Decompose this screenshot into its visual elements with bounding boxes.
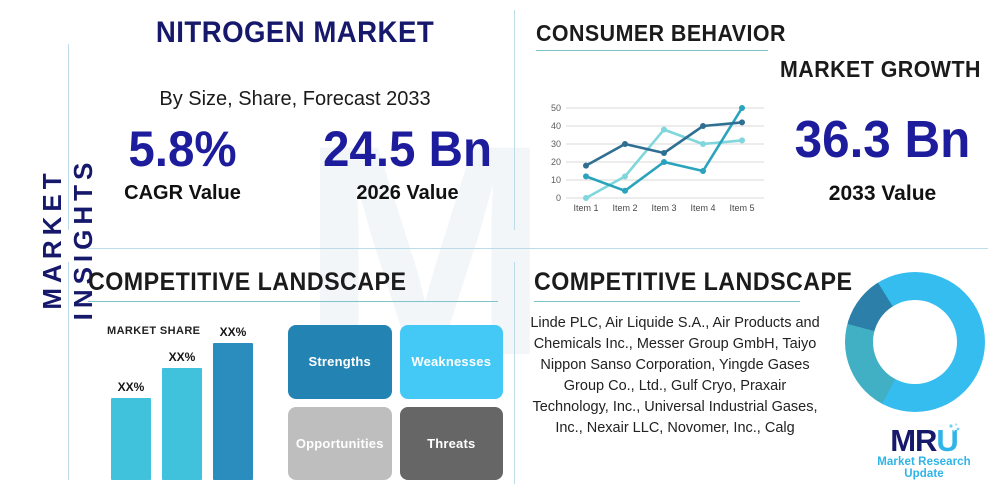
consumer-behavior-line-chart: 50 40 30 20 10 0 [536, 98, 766, 216]
bar-label-1: XX% [111, 380, 151, 394]
line-chart-svg: 50 40 30 20 10 0 [536, 98, 766, 216]
kpi-cagr: 5.8% CAGR Value [70, 120, 295, 205]
svg-text:Item 1: Item 1 [573, 203, 598, 213]
svg-text:30: 30 [551, 139, 561, 149]
chart-y-tick-labels: 50 40 30 20 10 0 [551, 103, 561, 203]
kpi-2026-value: 24.5 Bn [301, 120, 515, 178]
water-droplet-icon [946, 422, 962, 438]
section-heading-consumer-behavior: CONSUMER BEHAVIOR [536, 20, 786, 47]
chart-x-tick-labels: Item 1 Item 2 Item 3 Item 4 Item 5 [573, 203, 754, 213]
consumer-behavior-underline [536, 50, 768, 51]
section-heading-competitive-landscape-left: COMPETITIVE LANDSCAPE [88, 268, 407, 297]
kpi-2026-caption: 2026 Value [295, 182, 520, 205]
line-series-2 [586, 108, 742, 191]
kpi-cagr-value: 5.8% [76, 120, 290, 178]
bar-rect-1 [111, 398, 151, 480]
swot-grid: Strengths Weaknesses Opportunities Threa… [288, 325, 503, 480]
section-heading-market-growth: MARKET GROWTH [780, 56, 981, 83]
donut-hole [873, 300, 957, 384]
page-subtitle: By Size, Share, Forecast 2033 [70, 88, 520, 111]
logo-mark: MRU [858, 424, 990, 457]
svg-text:Item 5: Item 5 [729, 203, 754, 213]
svg-text:50: 50 [551, 103, 561, 113]
svg-text:0: 0 [556, 193, 561, 203]
svg-text:20: 20 [551, 157, 561, 167]
svg-text:Item 4: Item 4 [690, 203, 715, 213]
section-heading-competitive-landscape-right: COMPETITIVE LANDSCAPE [534, 268, 853, 297]
competitive-landscape-left-underline [88, 301, 498, 302]
kpi-2026: 24.5 Bn 2026 Value [295, 120, 520, 205]
competitive-landscape-right-underline [534, 301, 800, 302]
competitive-landscape-donut-chart [845, 272, 985, 412]
divider-horizontal-center [88, 248, 988, 249]
growth-value: 36.3 Bn [776, 110, 990, 170]
swot-threats[interactable]: Threats [400, 407, 504, 481]
svg-text:Item 3: Item 3 [651, 203, 676, 213]
svg-text:Item 2: Item 2 [612, 203, 637, 213]
kpi-row: 5.8% CAGR Value 24.5 Bn 2026 Value [70, 120, 520, 205]
svg-text:40: 40 [551, 121, 561, 131]
swot-weaknesses[interactable]: Weaknesses [400, 325, 504, 399]
logo-mark-mr: MR [890, 423, 936, 458]
kpi-cagr-caption: CAGR Value [70, 182, 295, 205]
market-share-bar-chart: XX% XX% XX% [103, 340, 273, 480]
divider-vertical-mid-bottom [514, 262, 515, 484]
bar-label-2: XX% [162, 350, 202, 364]
infographic-canvas: M MARKET INSIGHTS NITROGEN MARKET By Siz… [0, 0, 1000, 500]
company-list: Linde PLC, Air Liquide S.A., Air Product… [530, 313, 820, 439]
swot-strengths[interactable]: Strengths [288, 325, 392, 399]
logo[interactable]: MRU Market Research Update [858, 424, 990, 480]
bar-label-3: XX% [213, 325, 253, 339]
growth-caption: 2033 Value [770, 182, 995, 206]
bar-rect-2 [162, 368, 202, 480]
bar-item-2: XX% [162, 368, 202, 480]
bar-item-1: XX% [111, 398, 151, 480]
logo-tagline: Market Research Update [858, 456, 990, 480]
swot-opportunities[interactable]: Opportunities [288, 407, 392, 481]
market-share-label: MARKET SHARE [107, 325, 200, 337]
page-title: NITROGEN MARKET [88, 16, 502, 50]
bar-item-3: XX% [213, 343, 253, 480]
svg-text:10: 10 [551, 175, 561, 185]
bar-rect-3 [213, 343, 253, 480]
